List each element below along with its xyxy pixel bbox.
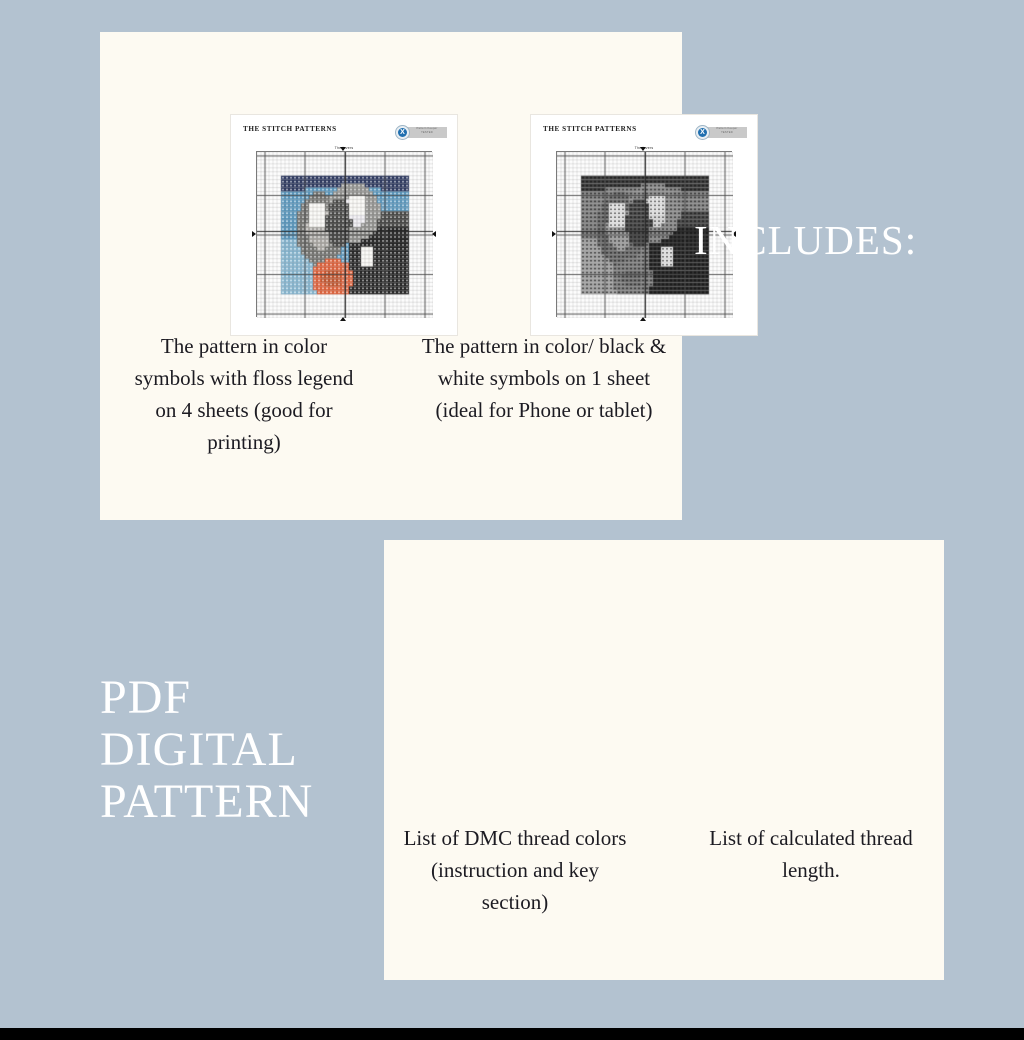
pdf-heading-line-2: DIGITAL: [100, 724, 313, 776]
badge-x-icon: X: [695, 125, 710, 140]
caption-bw-symbols: The pattern in color/ black & white symb…: [420, 330, 668, 426]
pattern-keeper-badge-icon: Pattern Keeper TESTED X: [395, 125, 447, 140]
sheet-brand-title: THE STITCH PATTERNS: [243, 125, 337, 133]
sheet-header: THE STITCH PATTERNS Pattern Keeper TESTE…: [231, 115, 457, 140]
caption-dmc-list: List of DMC thread colors (instruction a…: [400, 822, 630, 918]
pdf-digital-pattern-heading: PDF DIGITAL PATTERN: [100, 672, 313, 827]
sheet-brand-title: THE STITCH PATTERNS: [543, 125, 637, 133]
caption-color-symbols: The pattern in color symbols with floss …: [128, 330, 360, 458]
pattern-keeper-badge-icon: Pattern Keeper TESTED X: [695, 125, 747, 140]
sheet-color-symbols: THE STITCH PATTERNS Pattern Keeper TESTE…: [230, 114, 458, 336]
pdf-heading-line-1: PDF: [100, 672, 313, 724]
pdf-heading-line-3: PATTERN: [100, 776, 313, 828]
badge-line2: TESTED: [721, 131, 733, 134]
cross-stitch-chart-color: [256, 151, 432, 317]
sheet-header: THE STITCH PATTERNS Pattern Keeper TESTE…: [531, 115, 757, 140]
bottom-black-bar: [0, 1028, 1024, 1040]
poster-canvas: THE STITCH PATTERNS Pattern Keeper TESTE…: [0, 0, 1024, 1040]
includes-heading: INCLUDES:: [694, 218, 917, 262]
badge-x-icon: X: [395, 125, 410, 140]
caption-thread-length: List of calculated thread length.: [690, 822, 932, 886]
badge-line2: TESTED: [421, 131, 433, 134]
